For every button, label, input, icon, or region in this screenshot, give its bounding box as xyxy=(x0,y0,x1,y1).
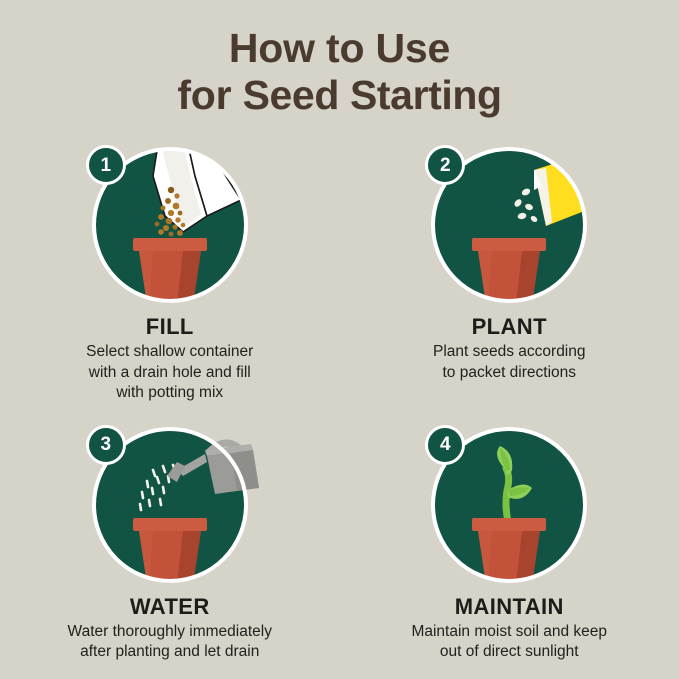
step-4-caption: MAINTAIN Maintain moist soil and keep ou… xyxy=(379,594,639,663)
step-2-title: PLANT xyxy=(379,314,639,339)
step-4-body-line-2: out of direct sunlight xyxy=(379,642,639,662)
step-1-body-line-2: with a drain hole and fill xyxy=(40,363,300,383)
step-1-fill: 1 FILL Select shallow container with a d… xyxy=(0,146,340,404)
step-3-title: WATER xyxy=(40,594,300,619)
seed-starting-infographic: How to Use for Seed Starting xyxy=(0,0,679,679)
step-3-body-line-2: after planting and let drain xyxy=(40,642,300,662)
step-3-body-line-1: Water thoroughly immediately xyxy=(40,622,300,642)
steps-grid: 1 FILL Select shallow container with a d… xyxy=(0,146,679,663)
step-3-illustration: 3 xyxy=(91,426,249,584)
step-2-body-line-1: Plant seeds according xyxy=(379,342,639,362)
step-2-body-line-2: to packet directions xyxy=(379,363,639,383)
step-2-caption: PLANT Plant seeds according to packet di… xyxy=(379,314,639,383)
page-title: How to Use for Seed Starting xyxy=(0,26,679,118)
title-line-2-light: for xyxy=(177,72,242,118)
step-2-body: Plant seeds according to packet directio… xyxy=(379,342,639,383)
step-number-badge-4: 4 xyxy=(425,425,465,465)
step-4-body: Maintain moist soil and keep out of dire… xyxy=(379,622,639,663)
step-1-caption: FILL Select shallow container with a dra… xyxy=(40,314,300,404)
step-1-body: Select shallow container with a drain ho… xyxy=(40,342,300,403)
title-line-1: How to Use xyxy=(0,26,679,70)
step-number-badge-3: 3 xyxy=(86,425,126,465)
step-2-plant: 2 PLANT Plant seeds according to packet … xyxy=(340,146,679,404)
step-3-caption: WATER Water thoroughly immediately after… xyxy=(40,594,300,663)
step-1-illustration: 1 xyxy=(91,146,249,304)
step-4-body-line-1: Maintain moist soil and keep xyxy=(379,622,639,642)
step-3-water: 3 WATER Water thoroughly immediately aft… xyxy=(0,426,340,663)
title-line-2: for Seed Starting xyxy=(0,73,679,117)
step-4-title: MAINTAIN xyxy=(379,594,639,619)
step-number-badge-2: 2 xyxy=(425,145,465,185)
step-4-maintain: 4 MAINTAIN Maintain moist soil and keep … xyxy=(340,426,679,663)
title-line-2-bold: Seed Starting xyxy=(243,72,502,118)
step-2-illustration: 2 xyxy=(430,146,588,304)
step-3-body: Water thoroughly immediately after plant… xyxy=(40,622,300,663)
step-number-badge-1: 1 xyxy=(86,145,126,185)
step-1-title: FILL xyxy=(40,314,300,339)
step-1-body-line-3: with potting mix xyxy=(40,383,300,403)
step-1-body-line-1: Select shallow container xyxy=(40,342,300,362)
step-4-illustration: 4 xyxy=(430,426,588,584)
